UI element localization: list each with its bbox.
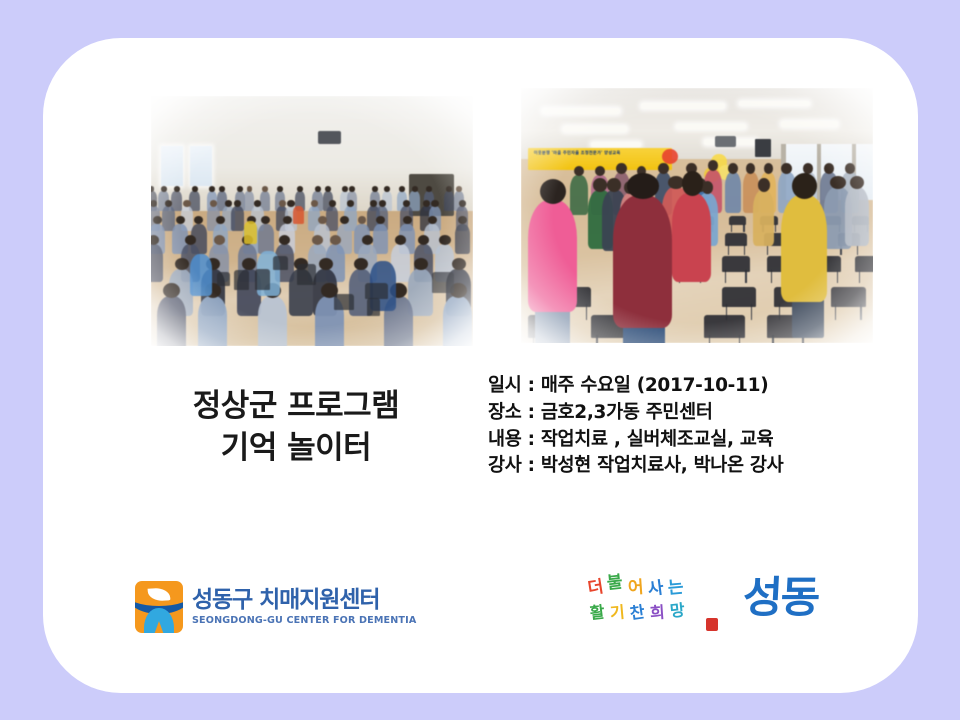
crowd-person-head bbox=[330, 235, 341, 245]
crowd-person-head bbox=[682, 171, 703, 197]
crowd-person-head bbox=[781, 163, 792, 174]
folding-chair bbox=[722, 287, 757, 307]
folding-chair bbox=[367, 298, 380, 316]
slogan-char: 불 bbox=[606, 574, 623, 593]
crowd-person bbox=[455, 224, 470, 254]
crowd-person-head bbox=[362, 235, 373, 245]
slogan-char: 기 bbox=[609, 604, 625, 621]
ceiling-light bbox=[591, 142, 640, 148]
page-title: 정상군 프로그램 기억 놀이터 bbox=[131, 386, 461, 469]
ceiling-light bbox=[542, 108, 619, 114]
crowd-person-head bbox=[165, 200, 172, 207]
crowd-person-head bbox=[277, 186, 283, 191]
crowd-person-foreground bbox=[613, 195, 673, 328]
crowd-person-head bbox=[219, 186, 225, 191]
crowd-person-head bbox=[764, 163, 774, 174]
crowd-person-head bbox=[279, 235, 290, 245]
seongdong-district-name: 성동 bbox=[742, 577, 819, 620]
crowd-person-head bbox=[728, 163, 738, 174]
detail-date: 일시 : 매주 수요일 (2017-10-11) bbox=[488, 373, 908, 400]
crowd-person-head bbox=[329, 200, 336, 207]
crowd-person bbox=[570, 175, 588, 216]
crowd-person-head bbox=[209, 186, 215, 191]
crowd-person-head bbox=[830, 176, 846, 189]
crowd-person-head bbox=[319, 258, 333, 271]
ceiling-light bbox=[781, 121, 837, 127]
crowd-person-head bbox=[459, 200, 466, 207]
seal-stamp-icon bbox=[706, 618, 718, 631]
detail-place: 장소 : 금호2,3가동 주민센터 bbox=[488, 400, 908, 427]
crowd-person-head bbox=[194, 216, 203, 224]
crowd-person-head bbox=[151, 200, 157, 207]
folding-chair bbox=[234, 270, 249, 290]
crowd-person-head bbox=[431, 200, 438, 207]
chair-leg bbox=[775, 224, 776, 232]
crowd-person-head bbox=[593, 178, 607, 191]
crowd-person-head bbox=[342, 186, 348, 191]
crowd-person-head bbox=[616, 163, 627, 174]
crowd-person-head bbox=[261, 216, 270, 224]
slogan-char: 희 bbox=[649, 605, 665, 622]
folding-chair bbox=[334, 294, 354, 309]
crowd-person-head bbox=[161, 186, 167, 191]
folding-chair bbox=[855, 256, 873, 272]
crowd-person-accent bbox=[190, 254, 213, 297]
slogan-char: 활 bbox=[589, 604, 606, 622]
hall-window bbox=[161, 146, 184, 186]
crowd-person-head bbox=[370, 200, 377, 207]
logo-seongdong-gu-center-for-dementia: 성동구 치매지원센터 SEONGDONG-GU CENTER FOR DEMEN… bbox=[135, 581, 416, 633]
crowd-person-head bbox=[607, 178, 621, 191]
ceiling-light bbox=[641, 103, 725, 109]
photo-standing-crowd: 이웃분쟁 '마을 주민자율 조정전문가' 양성교육 bbox=[521, 88, 873, 343]
crowd-person-head bbox=[153, 216, 162, 224]
crowd-person bbox=[231, 206, 244, 231]
slogan-char: 망 bbox=[669, 602, 685, 619]
dementia-center-wordmark: 성동구 치매지원센터 SEONGDONG-GU CENTER FOR DEMEN… bbox=[192, 588, 416, 627]
crowd-person-head bbox=[746, 163, 756, 174]
crowd-person-foreground bbox=[781, 195, 827, 302]
photo-seated-crowd-content bbox=[151, 96, 473, 346]
crowd-person-head bbox=[174, 186, 180, 191]
photo-standing-crowd-content: 이웃분쟁 '마을 주민자율 조정전문가' 양성교육 bbox=[521, 88, 873, 343]
crowd-person-head bbox=[395, 235, 406, 245]
crowd-person-head bbox=[384, 186, 390, 191]
crowd-person-head bbox=[175, 258, 189, 271]
dementia-center-name-ko: 성동구 치매지원센터 bbox=[192, 588, 416, 613]
folding-chair bbox=[729, 216, 746, 226]
crowd-person bbox=[753, 190, 774, 246]
crowd-person-head bbox=[850, 176, 864, 189]
crowd-person-head bbox=[262, 186, 268, 191]
slogan-char: 찬 bbox=[629, 604, 646, 622]
ceiling-light bbox=[676, 124, 746, 130]
crowd-person-head bbox=[627, 173, 659, 199]
slogan-char: 더 bbox=[587, 579, 605, 598]
chair-leg bbox=[731, 224, 732, 232]
crowd-person-head bbox=[658, 163, 669, 174]
folding-chair bbox=[255, 269, 269, 291]
crowd-person-trousers bbox=[792, 297, 824, 338]
crowd-person-head bbox=[423, 200, 430, 207]
crowd-person-head bbox=[279, 200, 286, 207]
crowd-person bbox=[443, 296, 472, 346]
slogan-char: 사 bbox=[647, 580, 665, 599]
ceiling-light bbox=[563, 126, 626, 132]
dementia-center-mark-icon bbox=[135, 581, 183, 633]
event-banner-text: 이웃분쟁 '마을 주민자율 조정전문가' 양성교육 bbox=[534, 151, 667, 155]
crowd-person-head bbox=[349, 186, 355, 191]
crowd-person-head bbox=[399, 186, 405, 191]
crowd-person-head bbox=[426, 186, 432, 191]
crowd-person-head bbox=[192, 186, 198, 191]
slogan-char: 는 bbox=[667, 579, 684, 597]
crowd-person-head bbox=[758, 178, 770, 191]
program-details: 일시 : 매주 수요일 (2017-10-11) 장소 : 금호2,3가동 주민… bbox=[488, 373, 908, 480]
crowd-person-head bbox=[792, 173, 817, 199]
crowd-person-trousers bbox=[535, 307, 570, 343]
slide-card: 이웃분쟁 '마을 주민자율 조정전문가' 양성교육 정상군 프로그램 기억 놀이… bbox=[43, 38, 918, 693]
crowd-person-head bbox=[403, 200, 410, 207]
crowd-person-head bbox=[379, 200, 386, 207]
crowd-person-head bbox=[418, 235, 429, 245]
folding-chair bbox=[365, 283, 387, 298]
logo-seongdong-gu-brand: 더불어사는활기찬희망 성동 bbox=[588, 577, 818, 641]
crowd-person bbox=[157, 296, 186, 346]
dementia-center-name-en: SEONGDONG-GU CENTER FOR DEMENTIA bbox=[192, 616, 416, 627]
crowd-person-head bbox=[312, 235, 323, 245]
crowd-person bbox=[444, 191, 454, 211]
crowd-person-head bbox=[358, 216, 367, 224]
crowd-person bbox=[845, 187, 870, 246]
crowd-person bbox=[258, 296, 287, 346]
crowd-person-head bbox=[247, 186, 253, 191]
ceiling-light bbox=[739, 101, 809, 107]
ceiling-projector bbox=[318, 131, 341, 144]
crowd-person-head bbox=[845, 163, 856, 174]
crowd-person-head bbox=[185, 235, 196, 245]
folding-chair bbox=[831, 287, 866, 307]
crowd-person-head bbox=[540, 179, 567, 205]
folding-chair bbox=[297, 264, 316, 285]
logo-row: 성동구 치매지원센터 SEONGDONG-GU CENTER FOR DEMEN… bbox=[43, 573, 918, 653]
crowd-person-head bbox=[708, 160, 719, 171]
seongdong-slogan: 더불어사는활기찬희망 bbox=[588, 579, 718, 637]
crowd-person bbox=[725, 172, 741, 213]
folding-chair bbox=[217, 272, 230, 286]
wall-speaker bbox=[755, 139, 771, 157]
folding-chair bbox=[273, 256, 288, 270]
ceiling-projector bbox=[715, 136, 736, 146]
crowd-person-head bbox=[372, 186, 378, 191]
crowd-person-head bbox=[225, 200, 232, 207]
crowd-person bbox=[198, 296, 227, 346]
crowd-person-head bbox=[234, 200, 241, 207]
crowd-person-foreground bbox=[528, 200, 577, 312]
crowd-person-head bbox=[163, 283, 180, 298]
detail-lecturer: 강사 : 박성현 작업치료사, 박나온 강사 bbox=[488, 453, 908, 480]
crowd-person-head bbox=[315, 186, 321, 191]
crowd-person-head bbox=[824, 163, 835, 174]
detail-content: 내용 : 작업치료 , 실버체조교실, 교육 bbox=[488, 427, 908, 454]
crowd-person-head bbox=[325, 186, 331, 191]
crowd-person-accent bbox=[293, 206, 304, 224]
folding-chair bbox=[432, 272, 454, 293]
folding-chair bbox=[725, 233, 747, 245]
slogan-char: 어 bbox=[627, 579, 644, 597]
crowd-person bbox=[151, 244, 163, 282]
crowd-person-head bbox=[456, 186, 462, 191]
crowd-person-head bbox=[183, 200, 190, 207]
crowd-person-head bbox=[297, 186, 303, 191]
crowd-person-head bbox=[414, 258, 428, 271]
crowd-person-accent bbox=[244, 221, 257, 244]
crowd-person-head bbox=[237, 186, 243, 191]
crowd-person-head bbox=[242, 258, 256, 271]
crowd-person-head bbox=[803, 163, 814, 174]
crowd-person-head bbox=[214, 235, 225, 245]
crowd-person-head bbox=[439, 235, 450, 245]
photo-seated-crowd bbox=[151, 96, 473, 346]
crowd-person-head bbox=[287, 200, 294, 207]
crowd-person-head bbox=[412, 186, 418, 191]
chair-leg bbox=[743, 224, 744, 232]
crowd-person-head bbox=[595, 166, 606, 177]
crowd-person-head bbox=[210, 200, 217, 207]
folding-chair bbox=[704, 315, 745, 338]
photo-row: 이웃분쟁 '마을 주민자율 조정전문가' 양성교육 bbox=[43, 38, 918, 358]
crowd-person-head bbox=[452, 258, 466, 271]
crowd-person bbox=[258, 224, 273, 254]
folding-chair bbox=[722, 256, 750, 272]
crowd-person-head bbox=[446, 186, 452, 191]
hall-window bbox=[190, 146, 213, 186]
crowd-person-head bbox=[311, 200, 318, 207]
crowd-person-foreground bbox=[672, 193, 711, 282]
crowd-person-head bbox=[347, 200, 354, 207]
